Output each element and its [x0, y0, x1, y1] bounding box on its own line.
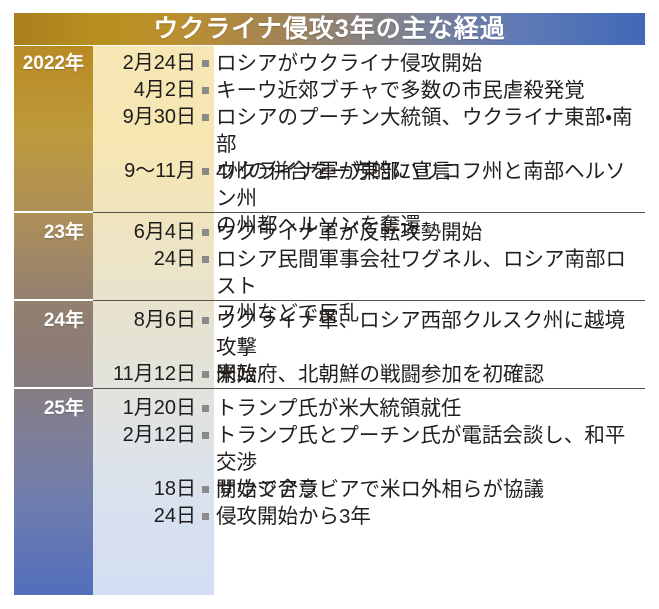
event-date: 18日 — [14, 476, 196, 503]
square-bullet-icon — [202, 256, 209, 263]
event-description: キーウ近郊ブチャで多数の市民虐殺発覚 — [214, 77, 645, 104]
event-date: 4月2日 — [14, 77, 196, 104]
bullet-marker-cell — [196, 246, 214, 273]
timeline-row: 4月2日キーウ近郊ブチャで多数の市民虐殺発覚 — [14, 77, 645, 104]
event-date: 1月20日 — [14, 395, 196, 422]
event-description: ロシアがウクライナ侵攻開始 — [214, 50, 645, 77]
section-divider-year — [14, 211, 93, 213]
square-bullet-icon — [202, 513, 209, 520]
event-date: 24日 — [14, 503, 196, 530]
section-divider-year — [14, 299, 93, 301]
square-bullet-icon — [202, 486, 209, 493]
event-description: サウジアラビアで米ロ外相らが協議 — [214, 476, 645, 503]
title-bar: ウクライナ侵攻3年の主な経過 — [14, 13, 645, 45]
event-description: 米政府、北朝鮮の戦闘参加を初確認 — [214, 361, 645, 388]
bullet-marker-cell — [196, 219, 214, 246]
event-date: 11月12日 — [14, 361, 196, 388]
bullet-marker-cell — [196, 395, 214, 422]
bullet-marker-cell — [196, 422, 214, 449]
bullet-marker-cell — [196, 307, 214, 334]
bullet-marker-cell — [196, 158, 214, 185]
square-bullet-icon — [202, 114, 209, 121]
timeline-row: 24日侵攻開始から3年 — [14, 503, 645, 530]
infographic-timeline: ウクライナ侵攻3年の主な経過 2022年2月24日ロシアがウクライナ侵攻開始4月… — [0, 0, 659, 609]
event-date: 8月6日 — [14, 307, 196, 334]
event-date: 2月12日 — [14, 422, 196, 449]
timeline-row: 2月24日ロシアがウクライナ侵攻開始 — [14, 50, 645, 77]
timeline-table: 2022年2月24日ロシアがウクライナ侵攻開始4月2日キーウ近郊ブチャで多数の市… — [14, 46, 645, 595]
bullet-marker-cell — [196, 503, 214, 530]
timeline-row: 6月4日ウクライナ軍が反転攻勢開始 — [14, 219, 645, 246]
event-date: 9月30日 — [14, 104, 196, 131]
bullet-marker-cell — [196, 77, 214, 104]
timeline-row: 18日サウジアラビアで米ロ外相らが協議 — [14, 476, 645, 503]
page-title: ウクライナ侵攻3年の主な経過 — [153, 17, 505, 42]
event-description: ウクライナ軍が反転攻勢開始 — [214, 219, 645, 246]
section-divider — [93, 388, 645, 389]
timeline-row: 11月12日米政府、北朝鮮の戦闘参加を初確認 — [14, 361, 645, 388]
square-bullet-icon — [202, 371, 209, 378]
square-bullet-icon — [202, 317, 209, 324]
event-description: 侵攻開始から3年 — [214, 503, 645, 530]
section-divider — [93, 212, 645, 213]
bullet-marker-cell — [196, 476, 214, 503]
square-bullet-icon — [202, 60, 209, 67]
event-date: 2月24日 — [14, 50, 196, 77]
section-divider-year — [14, 387, 93, 389]
timeline-row: 1月20日トランプ氏が米大統領就任 — [14, 395, 645, 422]
event-date: 6月4日 — [14, 219, 196, 246]
square-bullet-icon — [202, 432, 209, 439]
event-description: トランプ氏が米大統領就任 — [214, 395, 645, 422]
event-date: 24日 — [14, 246, 196, 273]
square-bullet-icon — [202, 229, 209, 236]
event-date: 9〜11月 — [14, 158, 196, 185]
bullet-marker-cell — [196, 104, 214, 131]
square-bullet-icon — [202, 405, 209, 412]
square-bullet-icon — [202, 168, 209, 175]
bullet-marker-cell — [196, 50, 214, 77]
square-bullet-icon — [202, 87, 209, 94]
section-divider — [93, 300, 645, 301]
bullet-marker-cell — [196, 361, 214, 388]
